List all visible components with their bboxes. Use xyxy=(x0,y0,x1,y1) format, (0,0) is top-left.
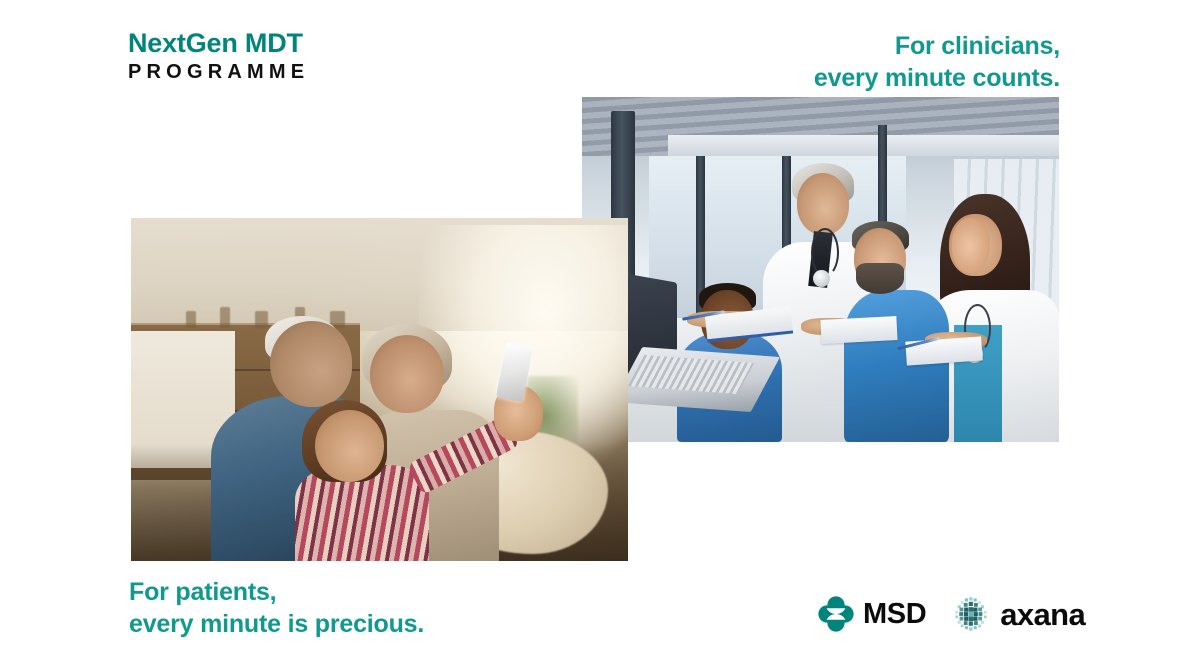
stethoscope-icon xyxy=(811,228,839,277)
msd-wordmark: MSD xyxy=(863,600,926,629)
axana-wordmark: axana xyxy=(1000,599,1085,630)
brand-logo-line-2: PROGRAMME xyxy=(128,62,309,84)
msd-logo: MSD xyxy=(818,596,926,632)
axana-dotted-circle-icon xyxy=(952,595,990,633)
brand-logo: NextGen MDT PROGRAMME xyxy=(128,29,309,84)
msd-cloverleaf-icon xyxy=(818,596,854,632)
shelf-ornament xyxy=(220,307,230,328)
footer-logo-group: MSD xyxy=(818,592,1085,636)
grandmother-head xyxy=(370,335,445,414)
notebook xyxy=(906,336,984,365)
female-clinician-face xyxy=(952,218,990,273)
headline-patients: For patients, every minute is precious. xyxy=(129,576,424,640)
ceiling-beam xyxy=(668,135,1059,156)
stethoscope-bell xyxy=(813,270,830,287)
window-mullion xyxy=(878,125,887,229)
girl-head xyxy=(315,410,385,482)
bearded-clinician-beard xyxy=(856,263,904,294)
grandfather-head xyxy=(270,321,352,407)
headline-clinicians: For clinicians, every minute counts. xyxy=(814,30,1060,94)
patients-photo xyxy=(131,218,628,561)
clinicians-photo xyxy=(582,97,1059,442)
shelf-ornament xyxy=(186,311,196,328)
senior-doctor-head xyxy=(797,173,849,235)
axana-logo: axana xyxy=(952,595,1085,633)
brand-logo-line-1: NextGen MDT xyxy=(128,29,309,58)
bearded-clinician-scrubs xyxy=(844,290,949,442)
notebook xyxy=(820,316,897,344)
shelf-ornament xyxy=(255,311,267,328)
